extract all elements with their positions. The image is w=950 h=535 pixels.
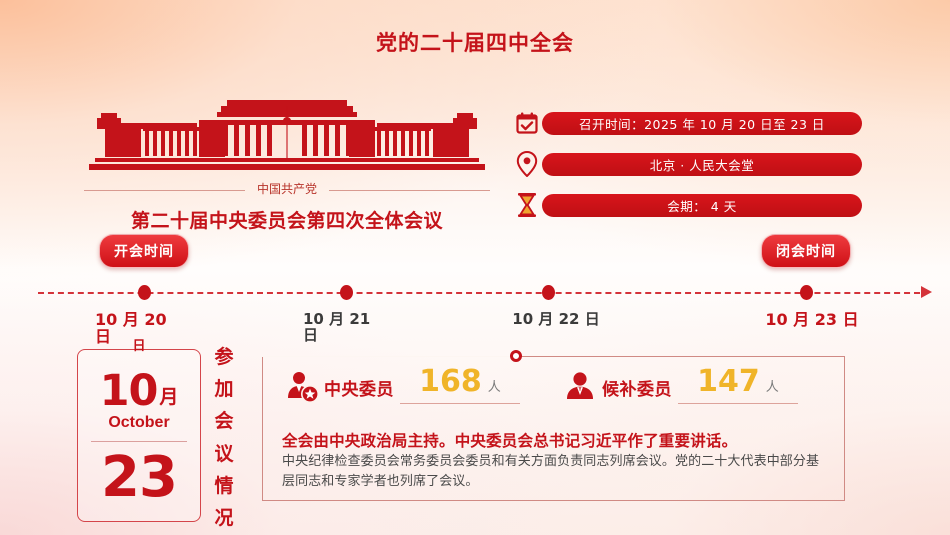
attendance-panel: 中央委员 168 人 候补委员 147 [262,356,845,501]
vertical-char: 议 [214,445,233,464]
caption-rule-right [329,190,490,191]
timeline-arrow-icon [921,286,932,298]
vertical-char: 会 [214,412,233,431]
hourglass-icon [512,192,542,218]
calendar-divider [91,441,187,442]
caption-rule-left [84,190,245,191]
info-venue-text: 北京 · 人民大会堂 [542,153,862,176]
stat-alternate-member-unit: 人 [766,376,779,395]
stat-central-member: 中央委员 168 人 [282,364,520,404]
summary-body-text: 中央纪律检查委员会常务委员会委员和有关方面负责同志列席会议。党的二十大代表中部分… [282,452,829,492]
timeline-dot[interactable] [340,285,353,300]
section-vertical-label: 参 加 会 议 情 况 [207,348,241,528]
calendar-check-icon [512,111,542,135]
stat-alternate-member: 候补委员 147 人 [560,364,798,404]
location-pin-icon [512,151,542,177]
vertical-char: 情 [214,477,233,496]
calendar-day-number: 23 [78,445,200,510]
timeline-dot[interactable] [138,285,151,300]
timeline-dot[interactable] [542,285,555,300]
stat-central-member-label: 中央委员 [324,375,394,400]
calendar-month-number: 10 [100,366,158,416]
timeline-dot[interactable] [800,285,813,300]
info-duration-text: 会期： 4 天 [542,194,862,217]
calendar-tab-label: 日 [131,340,147,354]
info-date-text: 召开时间：2025 年 10 月 20 日至 23 日 [542,112,862,135]
calendar-month-row: 10月 [78,366,200,416]
vertical-char: 加 [214,380,233,399]
timeline-label-day2: 10 月 21 日 [303,312,385,344]
timeline-close-badge[interactable]: 闭会时间 [761,234,851,268]
stat-alternate-member-number: 147 [697,364,760,399]
timeline: 开会时间 闭会时间 10 月 20 日 10 月 21 日 10 月 22 日 … [0,236,950,346]
stat-central-member-number: 168 [419,364,482,399]
timeline-label-day3: 10 月 22 日 [501,312,611,328]
stat-alternate-member-label: 候补委员 [602,375,672,400]
calendar-card: 日 10月 October 23 [77,349,201,522]
attendance-stats: 中央委员 168 人 候补委员 147 [282,364,835,404]
great-hall-of-the-people-icon [87,98,487,176]
info-row-date: 召开时间：2025 年 10 月 20 日至 23 日 [512,108,862,138]
page-title: 党的二十届四中全会 [0,27,950,57]
panel-notch-icon [510,350,522,362]
emblem-block: 中国共产党 第二十届中央委员会第四次全体会议 [72,98,502,233]
emblem-subtitle: 第二十届中央委员会第四次全体会议 [72,206,502,233]
timeline-axis [38,292,920,294]
emblem-caption: 中国共产党 [72,180,502,200]
member-suit-icon [560,370,600,404]
info-row-venue: 北京 · 人民大会堂 [512,149,862,179]
calendar-month-char: 月 [159,386,178,408]
member-star-icon [282,370,322,404]
vertical-char: 况 [214,509,233,528]
infographic-canvas: 党的二十届四中全会 [0,0,950,535]
vertical-char: 参 [214,348,233,367]
meeting-info-list: 召开时间：2025 年 10 月 20 日至 23 日 北京 · 人民大会堂 [512,108,862,231]
info-row-duration: 会期： 4 天 [512,190,862,220]
calendar-month-english: October [78,414,200,432]
emblem-caption-text: 中国共产党 [249,180,325,197]
stat-alternate-member-value: 147 人 [678,364,798,404]
stat-central-member-value: 168 人 [400,364,520,404]
timeline-label-day4: 10 月 23 日 [757,312,867,329]
timeline-open-badge[interactable]: 开会时间 [99,234,189,268]
summary-lead-text: 全会由中央政治局主持。中央委员会总书记习近平作了重要讲话。 [282,429,827,451]
stat-central-member-unit: 人 [488,376,501,395]
